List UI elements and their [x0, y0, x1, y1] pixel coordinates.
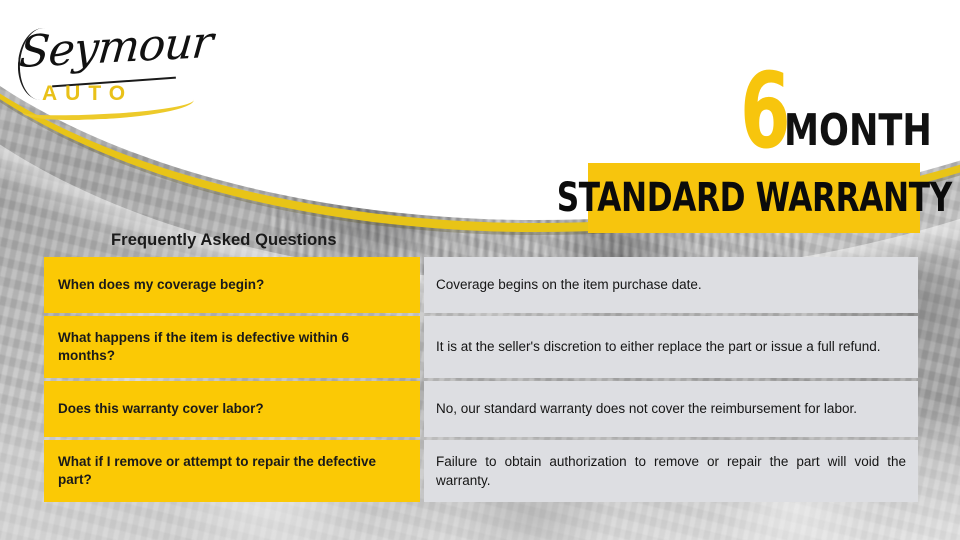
faq-answer: No, our standard warranty does not cover… — [424, 381, 918, 437]
faq-answer: It is at the seller's discretion to eith… — [424, 316, 918, 378]
duration-unit: MONTH — [784, 109, 932, 153]
seymour-auto-logo: Seymour AUTO — [16, 18, 206, 110]
table-row: What if I remove or attempt to repair th… — [44, 440, 918, 502]
table-row: What happens if the item is defective wi… — [44, 316, 918, 378]
duration-badge: 6 MONTH — [740, 52, 960, 156]
duration-number: 6 — [740, 67, 789, 156]
warranty-title: STANDARD WARRANTY — [556, 175, 951, 221]
faq-question: Does this warranty cover labor? — [44, 381, 420, 437]
faq-answer: Failure to obtain authorization to remov… — [424, 440, 918, 502]
table-row: Does this warranty cover labor? No, our … — [44, 381, 918, 437]
faq-question: What happens if the item is defective wi… — [44, 316, 420, 378]
faq-question: When does my coverage begin? — [44, 257, 420, 313]
faq-heading: Frequently Asked Questions — [111, 231, 337, 250]
faq-answer: Coverage begins on the item purchase dat… — [424, 257, 918, 313]
warranty-slide: Seymour AUTO 6 MONTH STANDARD WARRANTY F… — [0, 0, 960, 540]
warranty-title-banner: STANDARD WARRANTY — [588, 163, 920, 233]
faq-question: What if I remove or attempt to repair th… — [44, 440, 420, 502]
logo-wordmark: Seymour — [17, 17, 214, 78]
faq-table: When does my coverage begin? Coverage be… — [44, 257, 918, 502]
table-row: When does my coverage begin? Coverage be… — [44, 257, 918, 313]
